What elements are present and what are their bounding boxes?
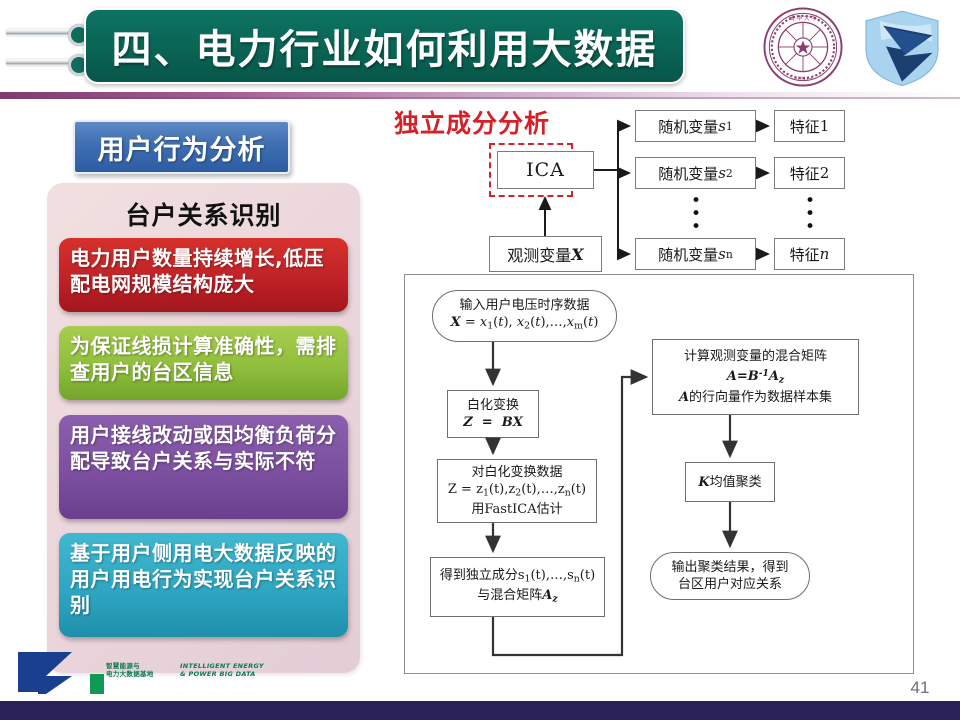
tsinghua-university-seal-icon: 清 华 大 学 ~1911~ [762, 6, 844, 88]
section-tag-label: 用户行为分析 [98, 128, 266, 167]
relationship-panel: 台户关系识别 电力用户数量持续增长,低压配电网规模结构庞大 为保证线损计算准确性… [47, 183, 360, 673]
brand-en-text: INTELLIGENT ENERGY & POWER BIG DATA [180, 662, 264, 678]
node-mixmatrix: 计算观测变量的混合矩阵 A=B-1Az A的行向量作为数据样本集 [652, 339, 859, 415]
random-variable-box-n: 随机变量sn [635, 238, 756, 270]
section-tag-user-behavior: 用户行为分析 [73, 120, 290, 174]
panel-title: 台户关系识别 [47, 196, 360, 232]
brand-logo: 智慧能源与 电力大数据基地 INTELLIGENT ENERGY & POWER… [12, 648, 252, 700]
feature-box-n: 特征n [774, 238, 845, 270]
observed-variable-symbol: X [571, 245, 583, 264]
node-fastica: 对白化变换数据 Z = z1(t),z2(t),…,zn(t) 用FastICA… [437, 459, 597, 523]
brand-cn-text: 智慧能源与 电力大数据基地 [106, 662, 154, 678]
title-plate: 四、电力行业如何利用大数据 [84, 8, 685, 84]
footer-bar [0, 701, 960, 720]
slide-header: 四、电力行业如何利用大数据 清 华 大 学 ~1911~ [0, 0, 960, 92]
node-components: 得到独立成分s1(t),…,sn(t) 与混合矩阵Az [430, 557, 605, 617]
ica-box-label: ICA [526, 159, 565, 181]
observed-variable-box: 观测变量X [489, 236, 602, 272]
shield-logo-icon [862, 8, 942, 88]
bullet-purple: 用户接线改动或因均衡负荷分配导致台户关系与实际不符 [59, 415, 348, 519]
ica-diagram-title: 独立成分分析 [394, 104, 550, 140]
vertical-ellipsis-random-vars: • • • [691, 195, 701, 234]
node-output: 输出聚类结果，得到 台区用户对应关系 [650, 552, 810, 600]
feature-box-1: 特征1 [774, 110, 845, 142]
page-number: 41 [900, 678, 940, 698]
vertical-ellipsis-features: • • • [805, 195, 815, 234]
svg-text:~1911~: ~1911~ [793, 76, 812, 82]
page-title: 四、电力行业如何利用大数据 [86, 10, 683, 82]
bullet-red: 电力用户数量持续增长,低压配电网规模结构庞大 [59, 238, 348, 312]
node-whitening: 白化变换 Z = BX [447, 390, 539, 438]
ica-box: ICA [497, 151, 594, 189]
feature-box-2: 特征2 [774, 157, 845, 189]
bullet-teal: 基于用户侧用电大数据反映的用户用电行为实现台户关系识别 [59, 533, 348, 637]
random-variable-box-2: 随机变量s2 [635, 157, 756, 189]
random-variable-box-1: 随机变量s1 [635, 110, 756, 142]
node-kmeans: K均值聚类 [685, 462, 775, 502]
node-input: 输入用户电压时序数据 X = x1(t), x2(t),…,xm(t) [432, 290, 617, 342]
svg-text:清 华 大 学: 清 华 大 学 [789, 14, 818, 22]
header-divider [0, 92, 960, 99]
bullet-green: 为保证线损计算准确性，需排查用户的台区信息 [59, 326, 348, 400]
observed-variable-label: 观测变量 [507, 242, 571, 266]
slide-canvas: 四、电力行业如何利用大数据 清 华 大 学 ~1911~ [0, 0, 960, 720]
